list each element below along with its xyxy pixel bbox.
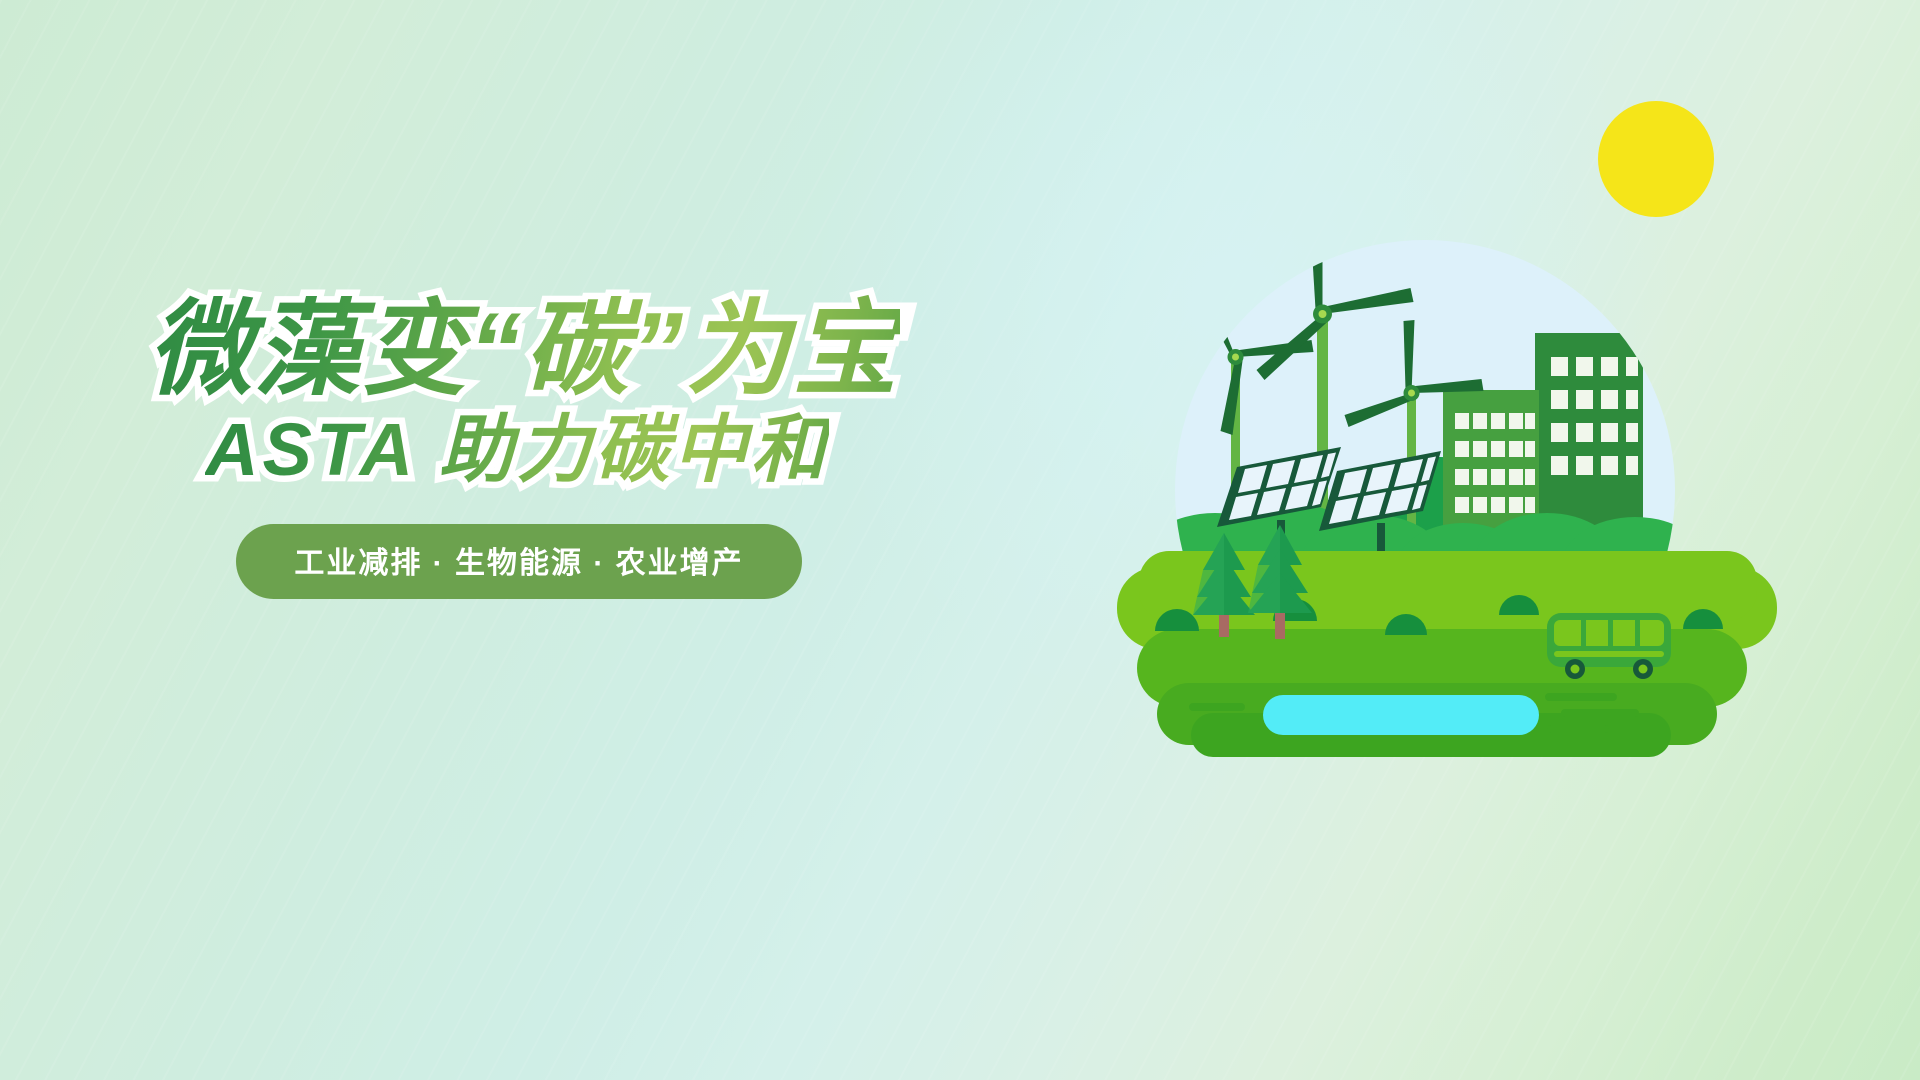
sun-icon bbox=[1598, 101, 1714, 217]
hero-title-main-fill: 微藻变“碳”为宝 bbox=[148, 292, 900, 408]
hero-title-main: 微藻变“碳”为宝 微藻变“碳”为宝 bbox=[148, 295, 900, 405]
hero-title-sub-row: ASTA 助力碳中和 ASTA 助力碳中和 bbox=[4, 405, 1030, 489]
keyword-badge: 工业减排 · 生物能源 · 农业增产 bbox=[236, 524, 801, 599]
hero-text-block: 微藻变“碳”为宝 微藻变“碳”为宝 ASTA 助力碳中和 ASTA 助力碳中和 … bbox=[0, 295, 1030, 599]
hero-title-sub-fill: ASTA 助力碳中和 bbox=[205, 408, 829, 491]
hero-title-main-row: 微藻变“碳”为宝 微藻变“碳”为宝 bbox=[18, 295, 1030, 405]
banner-canvas: 微藻变“碳”为宝 微藻变“碳”为宝 ASTA 助力碳中和 ASTA 助力碳中和 … bbox=[0, 0, 1920, 1080]
eco-city-illustration bbox=[1095, 215, 1795, 775]
hero-title-sub: ASTA 助力碳中和 ASTA 助力碳中和 bbox=[205, 411, 829, 489]
keyword-badge-row: 工业减排 · 生物能源 · 农业增产 bbox=[8, 524, 1030, 599]
